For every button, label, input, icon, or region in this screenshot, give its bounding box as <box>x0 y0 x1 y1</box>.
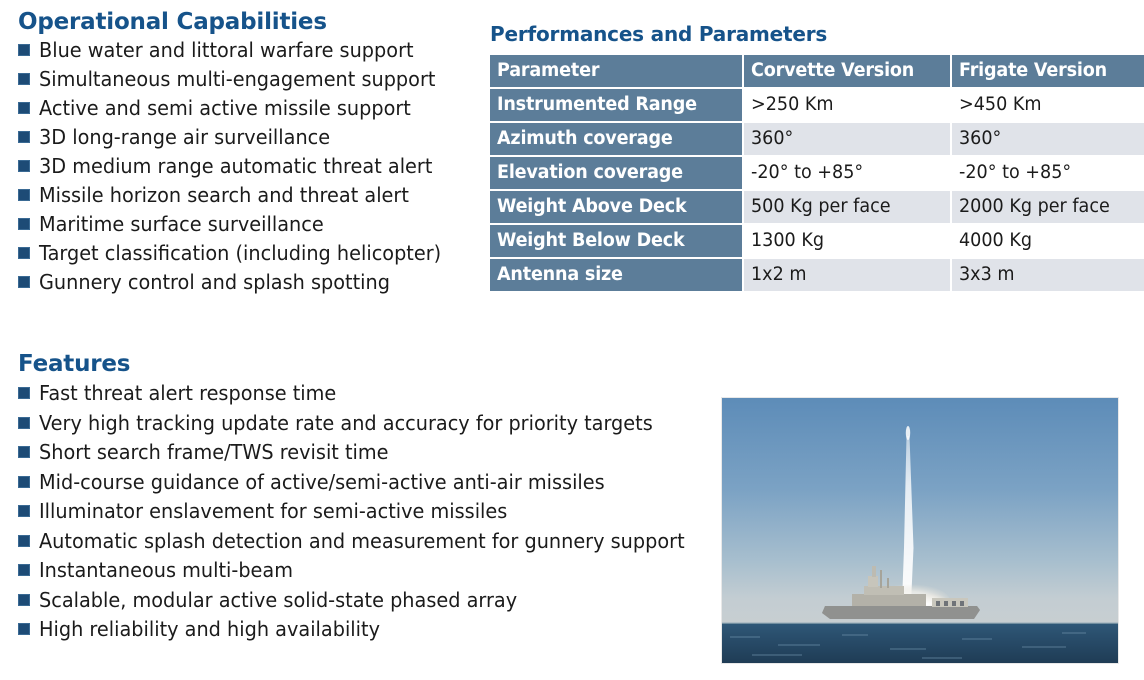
cell-corvette: -20° to +85° <box>744 157 950 189</box>
bullet-square-icon <box>18 417 30 429</box>
list-item: High reliability and high availability <box>18 619 728 649</box>
bullet-square-icon <box>18 276 30 288</box>
cell-frigate: -20° to +85° <box>952 157 1144 189</box>
bullet-square-icon <box>18 623 30 635</box>
column-header-corvette: Corvette Version <box>744 55 950 87</box>
cell-parameter: Elevation coverage <box>490 157 742 189</box>
list-item-label: 3D long-range air surveillance <box>39 127 330 148</box>
specifications-table: Parameter Corvette Version Frigate Versi… <box>488 53 1144 293</box>
cell-corvette: 1x2 m <box>744 259 950 291</box>
table-row: Weight Below Deck 1300 Kg 4000 Kg <box>490 225 1144 257</box>
cell-frigate: 360° <box>952 123 1144 155</box>
bullet-square-icon <box>18 73 30 85</box>
cell-label: 2000 Kg per face <box>959 196 1110 217</box>
list-item: 3D long-range air surveillance <box>18 127 498 156</box>
list-item: Gunnery control and splash spotting <box>18 272 498 301</box>
list-item-label: Very high tracking update rate and accur… <box>39 413 653 434</box>
bullet-square-icon <box>18 131 30 143</box>
list-item: Illuminator enslavement for semi-active … <box>18 501 728 531</box>
list-item-label: High reliability and high availability <box>39 619 380 640</box>
bullet-square-icon <box>18 476 30 488</box>
bullet-square-icon <box>18 44 30 56</box>
list-item-label: Mid-course guidance of active/semi-activ… <box>39 472 605 493</box>
cell-frigate: 3x3 m <box>952 259 1144 291</box>
table-header-row: Parameter Corvette Version Frigate Versi… <box>490 55 1144 87</box>
bullet-square-icon <box>18 594 30 606</box>
list-item-label: 3D medium range automatic threat alert <box>39 156 432 177</box>
cell-label: Antenna size <box>497 264 623 285</box>
cell-parameter: Azimuth coverage <box>490 123 742 155</box>
cell-corvette: >250 Km <box>744 89 950 121</box>
features-heading: Features <box>18 352 728 376</box>
bullet-square-icon <box>18 160 30 172</box>
list-item-label: Simultaneous multi-engagement support <box>39 69 435 90</box>
bullet-square-icon <box>18 247 30 259</box>
cell-parameter: Antenna size <box>490 259 742 291</box>
bullet-square-icon <box>18 387 30 399</box>
features-section: Features Fast threat alert response time… <box>18 352 728 649</box>
list-item-label: Automatic splash detection and measureme… <box>39 531 685 552</box>
column-header-label: Parameter <box>497 60 599 81</box>
list-item-label: Blue water and littoral warfare support <box>39 40 414 61</box>
list-item-label: Short search frame/TWS revisit time <box>39 442 389 463</box>
column-header-label: Corvette Version <box>751 60 914 81</box>
operational-capabilities-heading: Operational Capabilities <box>18 10 498 34</box>
cell-frigate: 2000 Kg per face <box>952 191 1144 223</box>
table-row: Instrumented Range >250 Km >450 Km <box>490 89 1144 121</box>
bullet-square-icon <box>18 189 30 201</box>
cell-frigate: >450 Km <box>952 89 1144 121</box>
cell-label: 4000 Kg <box>959 230 1032 251</box>
operational-capabilities-section: Operational Capabilities Blue water and … <box>18 10 498 301</box>
list-item-label: Illuminator enslavement for semi-active … <box>39 501 507 522</box>
cell-label: 360° <box>959 128 1001 149</box>
list-item: Blue water and littoral warfare support <box>18 40 498 69</box>
cell-label: 3x3 m <box>959 264 1014 285</box>
list-item-label: Gunnery control and splash spotting <box>39 272 390 293</box>
list-item: 3D medium range automatic threat alert <box>18 156 498 185</box>
cell-label: Weight Below Deck <box>497 230 684 251</box>
cell-label: -20° to +85° <box>959 162 1071 183</box>
list-item: Very high tracking update rate and accur… <box>18 413 728 443</box>
list-item: Missile horizon search and threat alert <box>18 185 498 214</box>
cell-label: Azimuth coverage <box>497 128 673 149</box>
list-item: Maritime surface surveillance <box>18 214 498 243</box>
cell-label: 1x2 m <box>751 264 806 285</box>
list-item-label: Maritime surface surveillance <box>39 214 324 235</box>
missile-launch-illustration <box>722 398 1118 663</box>
column-header-label: Frigate Version <box>959 60 1107 81</box>
features-list: Fast threat alert response time Very hig… <box>18 383 728 649</box>
table-row: Weight Above Deck 500 Kg per face 2000 K… <box>490 191 1144 223</box>
cell-corvette: 360° <box>744 123 950 155</box>
list-item-label: Instantaneous multi-beam <box>39 560 293 581</box>
cell-label: 500 Kg per face <box>751 196 891 217</box>
column-header-frigate: Frigate Version <box>952 55 1144 87</box>
list-item-label: Scalable, modular active solid-state pha… <box>39 590 517 611</box>
cell-label: Elevation coverage <box>497 162 683 183</box>
missile-launch-photo <box>722 398 1118 663</box>
bullet-square-icon <box>18 564 30 576</box>
cell-label: -20° to +85° <box>751 162 863 183</box>
list-item-label: Fast threat alert response time <box>39 383 336 404</box>
performances-and-parameters-section: Performances and Parameters Parameter Co… <box>490 24 1144 293</box>
cell-label: Instrumented Range <box>497 94 697 115</box>
list-item: Fast threat alert response time <box>18 383 728 413</box>
list-item-label: Target classification (including helicop… <box>39 243 441 264</box>
bullet-square-icon <box>18 102 30 114</box>
cell-label: >450 Km <box>959 94 1042 115</box>
operational-capabilities-list: Blue water and littoral warfare support … <box>18 40 498 301</box>
cell-parameter: Weight Above Deck <box>490 191 742 223</box>
cell-label: >250 Km <box>751 94 834 115</box>
list-item-label: Active and semi active missile support <box>39 98 411 119</box>
cell-corvette: 500 Kg per face <box>744 191 950 223</box>
list-item: Instantaneous multi-beam <box>18 560 728 590</box>
cell-frigate: 4000 Kg <box>952 225 1144 257</box>
table-row: Elevation coverage -20° to +85° -20° to … <box>490 157 1144 189</box>
cell-label: 360° <box>751 128 793 149</box>
list-item: Automatic splash detection and measureme… <box>18 531 728 561</box>
list-item: Mid-course guidance of active/semi-activ… <box>18 472 728 502</box>
table-row: Antenna size 1x2 m 3x3 m <box>490 259 1144 291</box>
bullet-square-icon <box>18 535 30 547</box>
bullet-square-icon <box>18 505 30 517</box>
list-item: Scalable, modular active solid-state pha… <box>18 590 728 620</box>
cell-label: Weight Above Deck <box>497 196 686 217</box>
column-header-parameter: Parameter <box>490 55 742 87</box>
bullet-square-icon <box>18 218 30 230</box>
list-item: Simultaneous multi-engagement support <box>18 69 498 98</box>
list-item-label: Missile horizon search and threat alert <box>39 185 409 206</box>
cell-parameter: Instrumented Range <box>490 89 742 121</box>
bullet-square-icon <box>18 446 30 458</box>
list-item: Target classification (including helicop… <box>18 243 498 272</box>
cell-label: 1300 Kg <box>751 230 824 251</box>
performances-and-parameters-heading: Performances and Parameters <box>490 24 1144 45</box>
list-item: Short search frame/TWS revisit time <box>18 442 728 472</box>
list-item: Active and semi active missile support <box>18 98 498 127</box>
cell-parameter: Weight Below Deck <box>490 225 742 257</box>
cell-corvette: 1300 Kg <box>744 225 950 257</box>
table-row: Azimuth coverage 360° 360° <box>490 123 1144 155</box>
